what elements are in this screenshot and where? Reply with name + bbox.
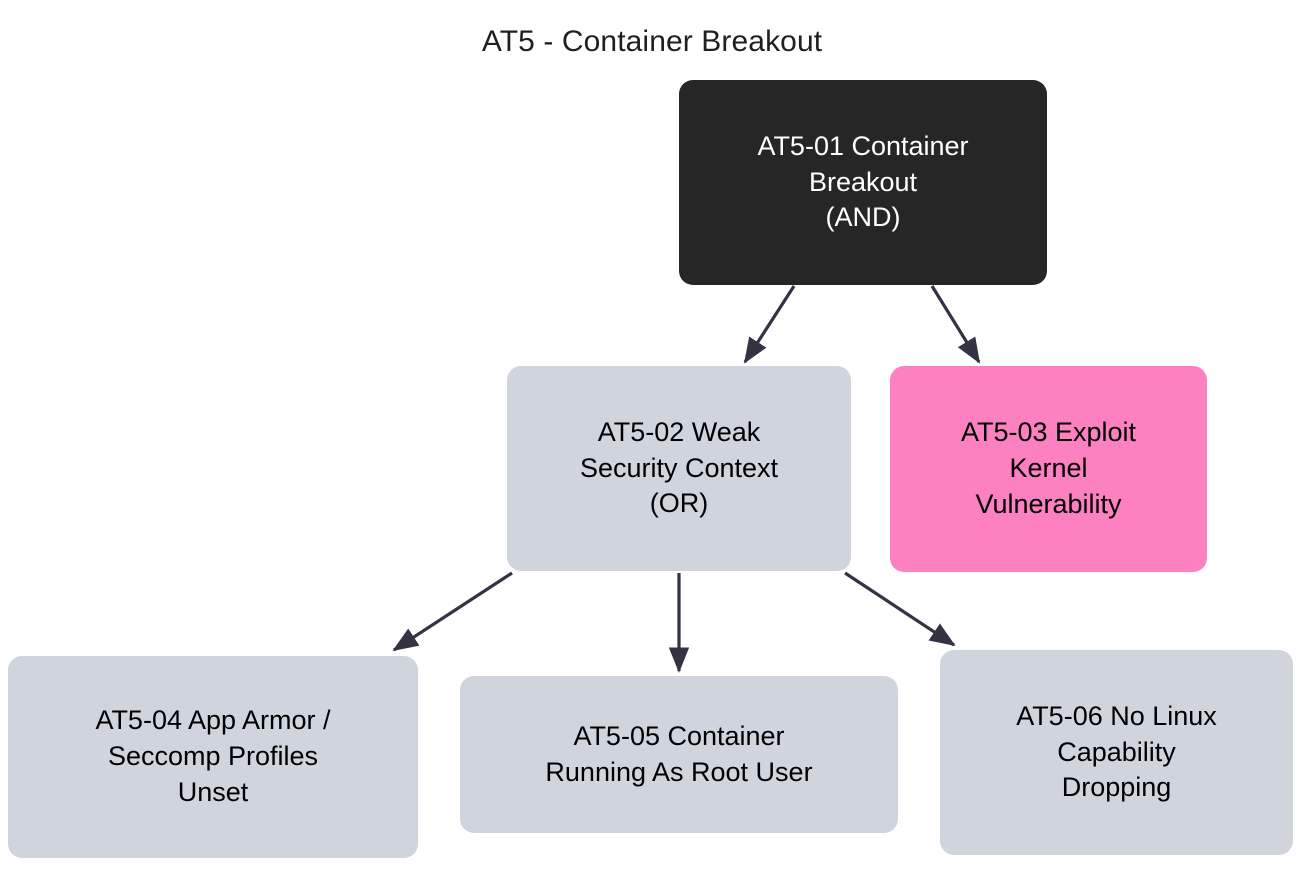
page-title: AT5 - Container Breakout xyxy=(0,25,1304,59)
node-at5-04[interactable]: AT5-04 App Armor / Seccomp Profiles Unse… xyxy=(8,656,418,858)
node-at5-06[interactable]: AT5-06 No Linux Capability Dropping xyxy=(940,650,1293,855)
attack-tree-diagram: AT5 - Container Breakout AT5-01 Containe… xyxy=(0,0,1304,870)
node-at5-02[interactable]: AT5-02 Weak Security Context (OR) xyxy=(507,366,851,571)
edge-at5-02-to-at5-04 xyxy=(394,573,512,650)
node-at5-05[interactable]: AT5-05 Container Running As Root User xyxy=(460,676,898,833)
edge-at5-02-to-at5-06 xyxy=(845,573,954,645)
edge-at5-01-to-at5-02 xyxy=(745,286,794,362)
node-at5-03[interactable]: AT5-03 Exploit Kernel Vulnerability xyxy=(890,366,1207,572)
edge-at5-01-to-at5-03 xyxy=(932,286,979,362)
node-at5-01[interactable]: AT5-01 Container Breakout (AND) xyxy=(679,80,1047,285)
